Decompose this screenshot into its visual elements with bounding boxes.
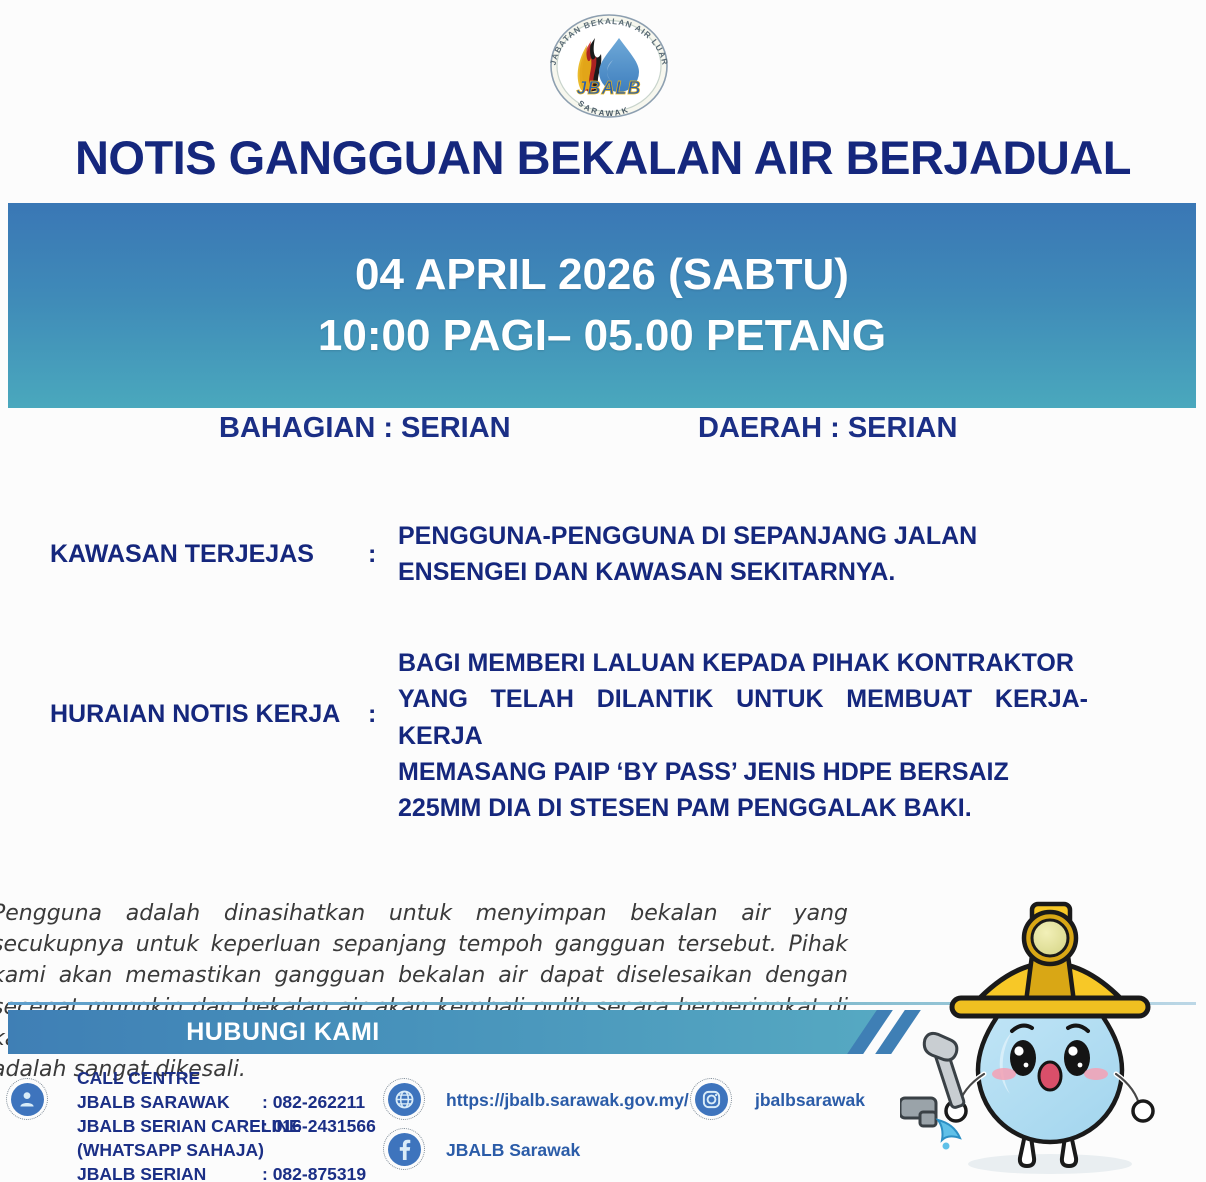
page-title: NOTIS GANGGUAN BEKALAN AIR BERJADUAL [0, 130, 1206, 185]
jbalb-logo: JABATAN BEKALAN AIR LUAR BANDAR SARAWAK … [533, 14, 685, 118]
globe-icon[interactable] [383, 1078, 425, 1120]
advisory-paragraph: Pengguna adalah dinasihatkan untuk menyi… [0, 898, 848, 1085]
huraian-label: HURAIAN NOTIS KERJA [50, 700, 340, 729]
svg-text:JBALB: JBALB [576, 78, 641, 98]
contact-banner: HUBUNGI KAMI [8, 1010, 888, 1054]
contact-row-value: : 082-875319 [262, 1162, 366, 1182]
call-centre-block: CALL CENTRE JBALB SARAWAK : 082-262211 J… [77, 1066, 377, 1182]
person-icon-disc [11, 1083, 44, 1116]
huraian-line-4: 225MM DIA DI STESEN PAM PENGGALAK BAKI. [398, 790, 1088, 826]
facebook-handle[interactable]: JBALB Sarawak [446, 1140, 580, 1161]
contact-row: JBALB SARAWAK : 082-262211 [77, 1090, 377, 1114]
huraian-line-3: MEMASANG PAIP ‘BY PASS’ JENIS HDPE BERSA… [398, 754, 1088, 790]
kawasan-line-2: ENSENGEI DAN KAWASAN SEKITARNYA. [398, 554, 1088, 590]
contact-row-name: JBALB SERIAN [77, 1162, 206, 1182]
contact-row: JBALB SERIAN CARELINE : 016-2431566 [77, 1114, 377, 1138]
huraian-line-2: YANG TELAH DILANTIK UNTUK MEMBUAT KERJA-… [398, 681, 1088, 754]
contact-row: JBALB SERIAN : 082-875319 [77, 1162, 377, 1182]
instagram-icon[interactable] [690, 1078, 732, 1120]
banner-date: 04 APRIL 2026 (SABTU) [355, 245, 849, 306]
call-centre-heading: CALL CENTRE [77, 1066, 200, 1090]
person-icon [6, 1078, 48, 1120]
contact-details: CALL CENTRE JBALB SARAWAK : 082-262211 J… [0, 1062, 960, 1182]
facebook-icon[interactable] [383, 1128, 425, 1170]
notice-poster: JABATAN BEKALAN AIR LUAR BANDAR SARAWAK … [0, 0, 1206, 1182]
kawasan-colon: : [368, 540, 376, 569]
facebook-icon-disc [388, 1133, 421, 1166]
huraian-value: BAGI MEMBERI LALUAN KEPADA PIHAK KONTRAK… [398, 645, 1088, 826]
huraian-line-1: BAGI MEMBERI LALUAN KEPADA PIHAK KONTRAK… [398, 645, 1088, 681]
contact-row-name: JBALB SARAWAK [77, 1090, 230, 1114]
contact-row-value: : 082-262211 [262, 1090, 365, 1114]
instagram-handle[interactable]: jbalbsarawak [755, 1090, 865, 1111]
contact-row-value: : 016-2431566 [262, 1114, 376, 1138]
contact-banner-label: HUBUNGI KAMI [186, 1018, 380, 1047]
bahagian-label: BAHAGIAN : SERIAN [219, 412, 511, 445]
globe-icon-disc [388, 1083, 421, 1116]
instagram-icon-disc [695, 1083, 728, 1116]
contact-row-name: (WHATSAPP SAHAJA) [77, 1138, 264, 1162]
water-droplet-mascot-icon [900, 862, 1206, 1182]
banner-time: 10:00 PAGI– 05.00 PETANG [318, 306, 886, 367]
kawasan-label: KAWASAN TERJEJAS [50, 540, 314, 569]
region-row: BAHAGIAN : SERIAN DAERAH : SERIAN [0, 412, 1206, 454]
call-centre-heading-row: CALL CENTRE [77, 1066, 377, 1090]
daerah-label: DAERAH : SERIAN [698, 412, 957, 445]
kawasan-line-1: PENGGUNA-PENGGUNA DI SEPANJANG JALAN [398, 518, 1088, 554]
contact-row: (WHATSAPP SAHAJA) [77, 1138, 377, 1162]
huraian-colon: : [368, 700, 376, 729]
website-url[interactable]: https://jbalb.sarawak.gov.my/ [446, 1090, 689, 1111]
date-time-banner: 04 APRIL 2026 (SABTU) 10:00 PAGI– 05.00 … [8, 203, 1196, 408]
kawasan-value: PENGGUNA-PENGGUNA DI SEPANJANG JALAN ENS… [398, 518, 1088, 591]
